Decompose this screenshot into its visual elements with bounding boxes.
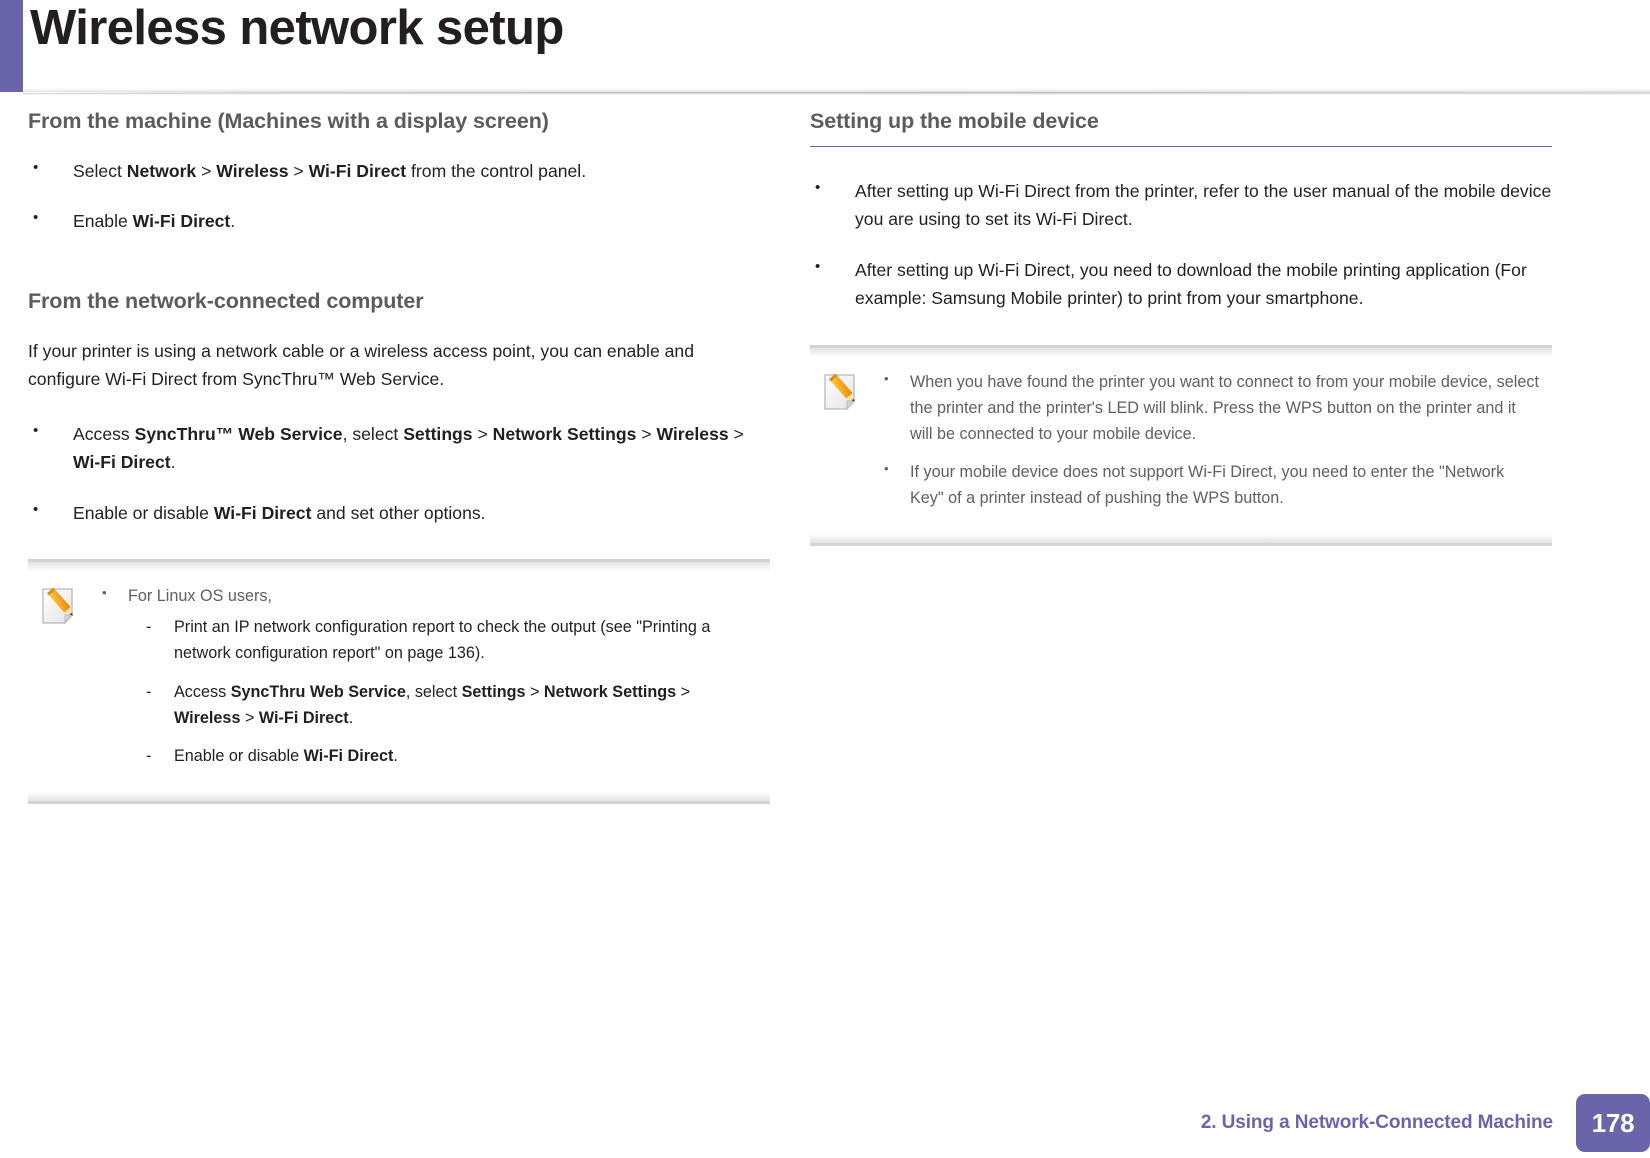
note-content: For Linux OS users, Print an IP network … [100, 584, 760, 769]
list-item: Print an IP network configuration report… [128, 614, 760, 666]
note-box-mobile: When you have found the printer you want… [810, 345, 1552, 547]
list-item: After setting up Wi-Fi Direct from the p… [810, 177, 1552, 234]
page-title: Wireless network setup [30, 2, 564, 56]
list-item: For Linux OS users, Print an IP network … [100, 584, 760, 769]
list-from-the-machine: Select Network > Wireless > Wi-Fi Direct… [28, 157, 770, 236]
list-mobile-device-steps: After setting up Wi-Fi Direct from the p… [810, 177, 1552, 313]
left-column: From the machine (Machines with a displa… [28, 108, 770, 804]
list-network-connected-steps: Access SyncThru™ Web Service, select Set… [28, 420, 770, 528]
header-divider-rule [23, 88, 1650, 95]
list-item: Select Network > Wireless > Wi-Fi Direct… [28, 157, 770, 186]
note-bullet-label: For Linux OS users, [128, 587, 272, 605]
note-list: When you have found the printer you want… [882, 370, 1542, 512]
list-item: Enable Wi-Fi Direct. [28, 207, 770, 236]
heading-setting-up-mobile-device: Setting up the mobile device [810, 108, 1552, 147]
note-pencil-icon [820, 370, 862, 414]
list-item: Enable or disable Wi-Fi Direct and set o… [28, 499, 770, 528]
page-footer: 2. Using a Network-Connected Machine 178 [0, 1078, 1650, 1158]
footer-chapter-label: 2. Using a Network-Connected Machine [1201, 1112, 1553, 1134]
list-item: After setting up Wi-Fi Direct, you need … [810, 256, 1552, 313]
list-item: If your mobile device does not support W… [882, 460, 1542, 512]
header-accent-bar [0, 0, 23, 92]
list-item: Access SyncThru Web Service, select Sett… [128, 679, 760, 731]
heading-from-network-connected-computer: From the network-connected computer [28, 288, 770, 315]
note-list: For Linux OS users, Print an IP network … [100, 584, 760, 769]
page-header: Wireless network setup [0, 0, 1650, 100]
list-item: Enable or disable Wi-Fi Direct. [128, 743, 760, 769]
note-box-linux: For Linux OS users, Print an IP network … [28, 559, 770, 804]
note-sub-list: Print an IP network configuration report… [128, 614, 760, 769]
page-number-badge: 178 [1576, 1094, 1650, 1152]
note-content: When you have found the printer you want… [882, 370, 1542, 512]
heading-from-the-machine: From the machine (Machines with a displa… [28, 108, 770, 135]
note-pencil-icon [38, 584, 80, 628]
list-item: Access SyncThru™ Web Service, select Set… [28, 420, 770, 477]
paragraph-network-connected-intro: If your printer is using a network cable… [28, 337, 770, 394]
list-item: When you have found the printer you want… [882, 370, 1542, 448]
right-column: Setting up the mobile device After setti… [810, 108, 1552, 546]
